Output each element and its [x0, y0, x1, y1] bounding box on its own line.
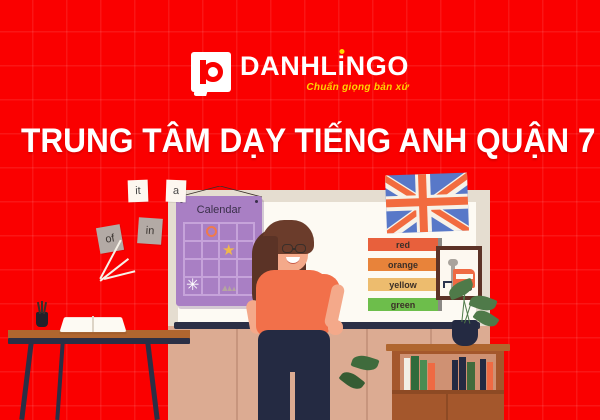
book-item	[411, 356, 419, 390]
glasses-icon	[295, 244, 306, 253]
book-item	[467, 362, 475, 390]
wall-panel-line	[236, 326, 238, 420]
bookshelf-top	[386, 344, 510, 351]
pin-icon	[255, 200, 258, 203]
logo-wordmark: DANHLiNGO	[240, 53, 409, 80]
calendar-cell	[202, 259, 220, 277]
calendar-cell	[184, 241, 202, 259]
calendar-cell	[202, 223, 220, 241]
book-item	[404, 358, 410, 390]
color-bar-label: red	[396, 240, 410, 250]
color-bar-orange: orange	[368, 258, 438, 271]
desk-leg	[145, 342, 159, 420]
logo-tagline: Chuẩn giọng bản xứ	[306, 82, 409, 93]
pencil-cup	[36, 312, 48, 327]
calendar-cell	[202, 241, 220, 259]
book-item	[487, 362, 493, 390]
calendar-cell	[202, 277, 220, 295]
book-item	[452, 360, 458, 390]
calendar-cell	[219, 259, 237, 277]
color-bar-label: green	[391, 300, 416, 310]
color-bar-label: orange	[388, 260, 418, 270]
potted-plant	[452, 320, 478, 346]
calendar-cell: ✳	[184, 277, 202, 295]
circle-icon	[206, 226, 217, 237]
calendar-cell: ★	[219, 241, 237, 259]
mountains-icon	[222, 283, 236, 291]
book-item	[428, 363, 435, 390]
word-card: it	[128, 180, 149, 203]
letter-d-logomark-icon	[191, 52, 231, 94]
color-bar-label: yellow	[389, 280, 417, 290]
desk-edge	[8, 338, 190, 344]
word-card: in	[137, 217, 163, 245]
color-word-bars: red orange yellow green	[368, 238, 438, 318]
promo-poster: DANHLiNGO Chuẩn giọng bản xứ TRUNG TÂM D…	[0, 0, 600, 420]
star-icon: ★	[222, 243, 235, 258]
desk-leg	[55, 342, 64, 420]
asterisk-icon: ✳	[186, 278, 199, 294]
brand-logo: DANHLiNGO Chuẩn giọng bản xứ	[0, 52, 600, 94]
color-bar-red: red	[368, 238, 438, 251]
word-card: a	[166, 180, 187, 203]
teacher-character	[244, 212, 362, 420]
book-item	[480, 359, 486, 390]
united-kingdom-flag-icon	[385, 173, 469, 234]
wall-panel-line	[366, 326, 368, 420]
color-bar-yellow: yellow	[368, 278, 438, 291]
calendar-cell	[219, 277, 237, 295]
calendar-cell	[184, 259, 202, 277]
calendar-cell	[184, 223, 202, 241]
book-item	[420, 360, 427, 390]
desk-leg	[19, 342, 33, 420]
calendar-cell	[219, 223, 237, 241]
english-classroom-illustration: Calendar ★ ✳	[0, 178, 600, 420]
book-item	[459, 357, 466, 390]
color-bar-green: green	[368, 298, 438, 311]
page-title: TRUNG TÂM DẠY TIẾNG ANH QUẬN 7	[21, 122, 579, 161]
